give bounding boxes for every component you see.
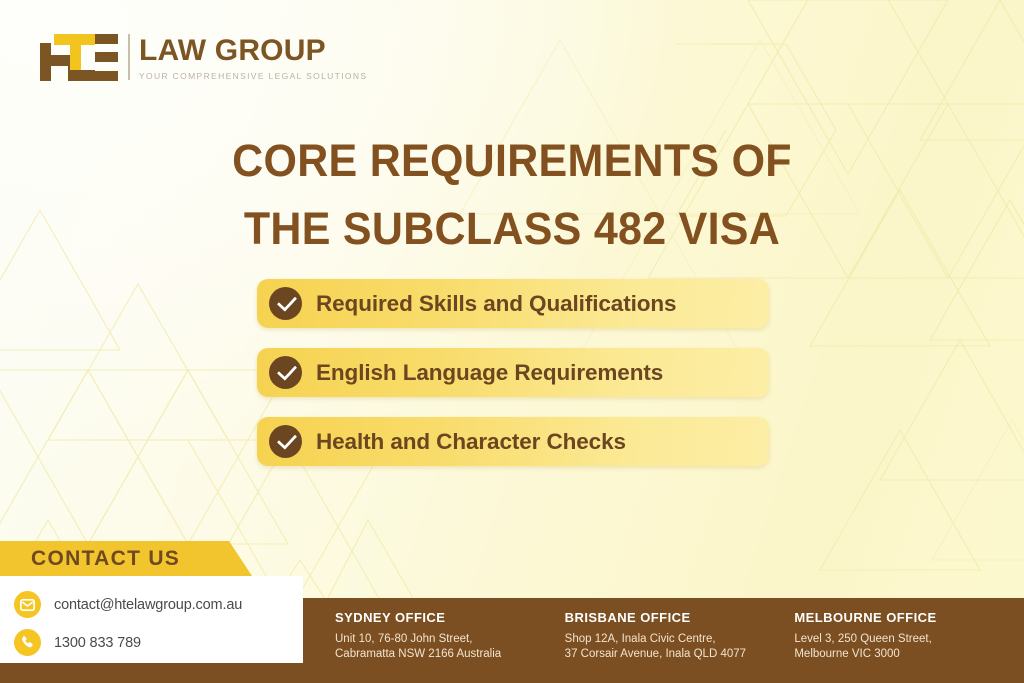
feature-item-english[interactable]: English Language Requirements <box>257 348 769 397</box>
feature-label: English Language Requirements <box>316 360 663 386</box>
contact-email-row[interactable]: contact@htelawgroup.com.au <box>14 589 303 620</box>
office-title: BRISBANE OFFICE <box>565 610 795 625</box>
feature-item-skills[interactable]: Required Skills and Qualifications <box>257 279 769 328</box>
feature-item-health[interactable]: Health and Character Checks <box>257 417 769 466</box>
page-title-line-2: THE SUBCLASS 482 VISA <box>23 195 1001 263</box>
office-melbourne: MELBOURNE OFFICE Level 3, 250 Queen Stre… <box>794 610 1024 662</box>
contact-us-label: CONTACT US <box>31 547 180 571</box>
check-circle-icon <box>269 287 302 320</box>
contact-phone-value: 1300 833 789 <box>54 635 141 651</box>
office-address-line-2: 37 Corsair Avenue, Inala QLD 4077 <box>565 647 795 662</box>
hte-logo-mark-icon <box>40 34 118 81</box>
page-title-line-1: CORE REQUIREMENTS OF <box>23 127 1001 195</box>
office-title: MELBOURNE OFFICE <box>794 610 1024 625</box>
page-title: CORE REQUIREMENTS OF THE SUBCLASS 482 VI… <box>23 127 1001 263</box>
office-address-line-1: Level 3, 250 Queen Street, <box>794 632 1024 647</box>
contact-us-banner: CONTACT US <box>0 541 252 576</box>
envelope-icon <box>14 591 41 618</box>
office-sydney: SYDNEY OFFICE Unit 10, 76-80 John Street… <box>335 610 565 662</box>
contact-email-value: contact@htelawgroup.com.au <box>54 597 242 613</box>
office-address-line-2: Cabramatta NSW 2166 Australia <box>335 647 565 662</box>
logo-name: LAW GROUP <box>139 35 367 67</box>
contact-phone-row[interactable]: 1300 833 789 <box>14 627 303 658</box>
brand-logo[interactable]: LAW GROUP YOUR COMPREHENSIVE LEGAL SOLUT… <box>40 33 367 85</box>
logo-divider <box>128 34 130 80</box>
check-circle-icon <box>269 356 302 389</box>
feature-list: Required Skills and Qualifications Engli… <box>257 279 769 466</box>
office-locations: SYDNEY OFFICE Unit 10, 76-80 John Street… <box>335 610 1024 662</box>
office-address-line-1: Shop 12A, Inala Civic Centre, <box>565 632 795 647</box>
phone-icon <box>14 629 41 656</box>
logo-tagline: YOUR COMPREHENSIVE LEGAL SOLUTIONS <box>139 71 367 81</box>
office-brisbane: BRISBANE OFFICE Shop 12A, Inala Civic Ce… <box>565 610 795 662</box>
feature-label: Required Skills and Qualifications <box>316 291 676 317</box>
office-title: SYDNEY OFFICE <box>335 610 565 625</box>
feature-label: Health and Character Checks <box>316 429 626 455</box>
logo-wordmark: LAW GROUP YOUR COMPREHENSIVE LEGAL SOLUT… <box>139 33 367 81</box>
office-address-line-2: Melbourne VIC 3000 <box>794 647 1024 662</box>
office-address-line-1: Unit 10, 76-80 John Street, <box>335 632 565 647</box>
contact-details-card: contact@htelawgroup.com.au 1300 833 789 <box>0 576 303 663</box>
promotional-poster: LAW GROUP YOUR COMPREHENSIVE LEGAL SOLUT… <box>0 0 1024 683</box>
check-circle-icon <box>269 425 302 458</box>
